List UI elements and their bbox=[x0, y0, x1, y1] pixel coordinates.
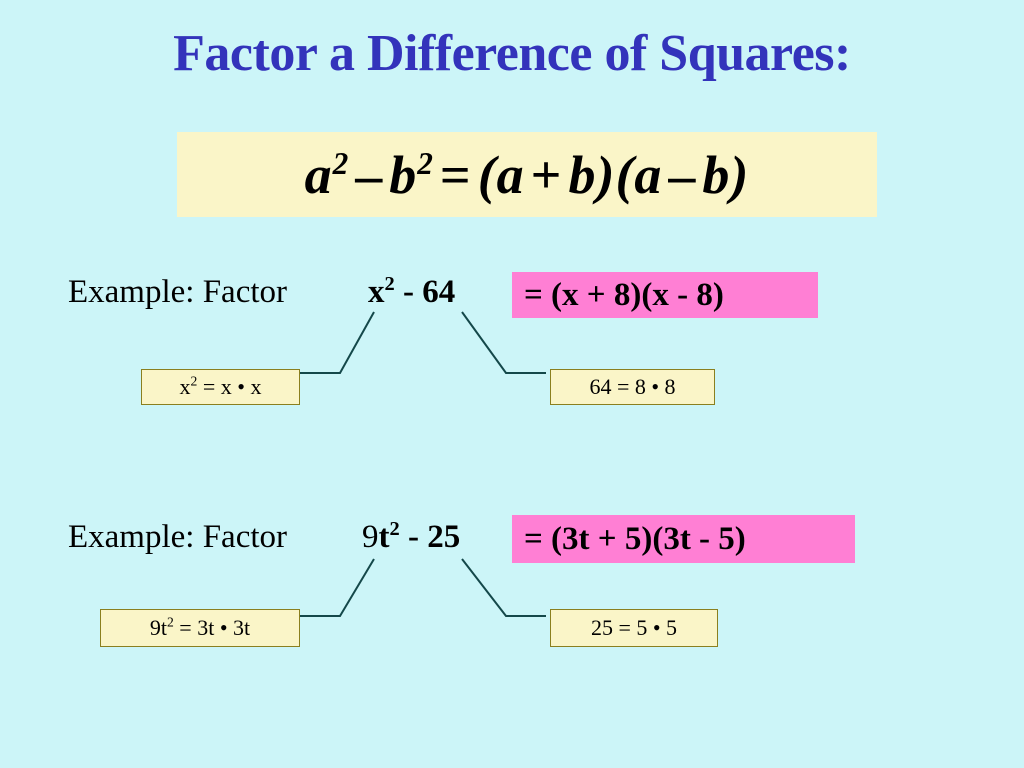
example-2-exponent: 2 bbox=[390, 518, 400, 540]
example-1-answer-box: = (x + 8)(x - 8) bbox=[512, 272, 818, 318]
leader-line-1-left bbox=[296, 308, 380, 380]
example-2-note-left-text: 9t2 = 3t • 3t bbox=[150, 615, 250, 641]
formula-diff-close-paren: ) bbox=[730, 145, 749, 205]
example-1-variable: x bbox=[368, 274, 385, 310]
formula-left-base: a bbox=[305, 145, 333, 205]
example-1-label: Example: Factor bbox=[68, 274, 287, 311]
example-2-expression: 9t2 - 25 bbox=[362, 519, 460, 556]
formula-sum-open-paren: ( bbox=[478, 145, 497, 205]
example-2-answer-text: = (3t + 5)(3t - 5) bbox=[524, 521, 746, 558]
formula-left-exponent: 2 bbox=[333, 146, 350, 181]
formula-minus-operator: – bbox=[349, 145, 389, 205]
leader-line-2-left bbox=[296, 555, 380, 623]
example-1-note-box-right: 64 = 8 • 8 bbox=[550, 369, 715, 405]
formula-banner: a2–b2=(a+b)(a–b) bbox=[177, 132, 877, 217]
example-1-answer-text: = (x + 8)(x - 8) bbox=[524, 277, 724, 314]
example-2-tail: - 25 bbox=[400, 519, 461, 555]
example-1-note-left-text: x2 = x • x bbox=[180, 374, 262, 400]
formula-sum-close-paren: ) bbox=[596, 145, 615, 205]
leader-line-1-right bbox=[458, 308, 550, 380]
formula-diff-minus-operator: – bbox=[662, 145, 702, 205]
example-2-note-box-right: 25 = 5 • 5 bbox=[550, 609, 718, 647]
example-2-variable: t bbox=[379, 519, 390, 555]
example-2-note-box-left: 9t2 = 3t • 3t bbox=[100, 609, 300, 647]
leader-line-2-right bbox=[458, 555, 550, 623]
example-2-note-right-text: 25 = 5 • 5 bbox=[591, 615, 677, 641]
difference-of-squares-formula: a2–b2=(a+b)(a–b) bbox=[305, 144, 750, 206]
slide-canvas: Factor a Difference of Squares: a2–b2=(a… bbox=[0, 0, 1024, 768]
page-title: Factor a Difference of Squares: bbox=[0, 24, 1024, 83]
example-2-answer-box: = (3t + 5)(3t - 5) bbox=[512, 515, 855, 563]
example-2-coefficient: 9 bbox=[362, 519, 379, 555]
formula-sum-left-term: a bbox=[497, 145, 525, 205]
example-1-tail: - 64 bbox=[395, 274, 456, 310]
example-1-note-right-text: 64 = 8 • 8 bbox=[589, 374, 675, 400]
example-2-label: Example: Factor bbox=[68, 519, 287, 556]
example-1-exponent: 2 bbox=[385, 273, 395, 295]
example-1-expression: x2 - 64 bbox=[368, 274, 455, 311]
formula-right-exponent: 2 bbox=[417, 146, 434, 181]
formula-equals-operator: = bbox=[434, 145, 478, 205]
formula-plus-operator: + bbox=[525, 145, 569, 205]
formula-diff-left-term: a bbox=[634, 145, 662, 205]
formula-diff-open-paren: ( bbox=[615, 145, 634, 205]
formula-right-base: b bbox=[389, 145, 417, 205]
formula-sum-right-term: b bbox=[568, 145, 596, 205]
example-1-note-box-left: x2 = x • x bbox=[141, 369, 300, 405]
formula-diff-right-term: b bbox=[702, 145, 730, 205]
